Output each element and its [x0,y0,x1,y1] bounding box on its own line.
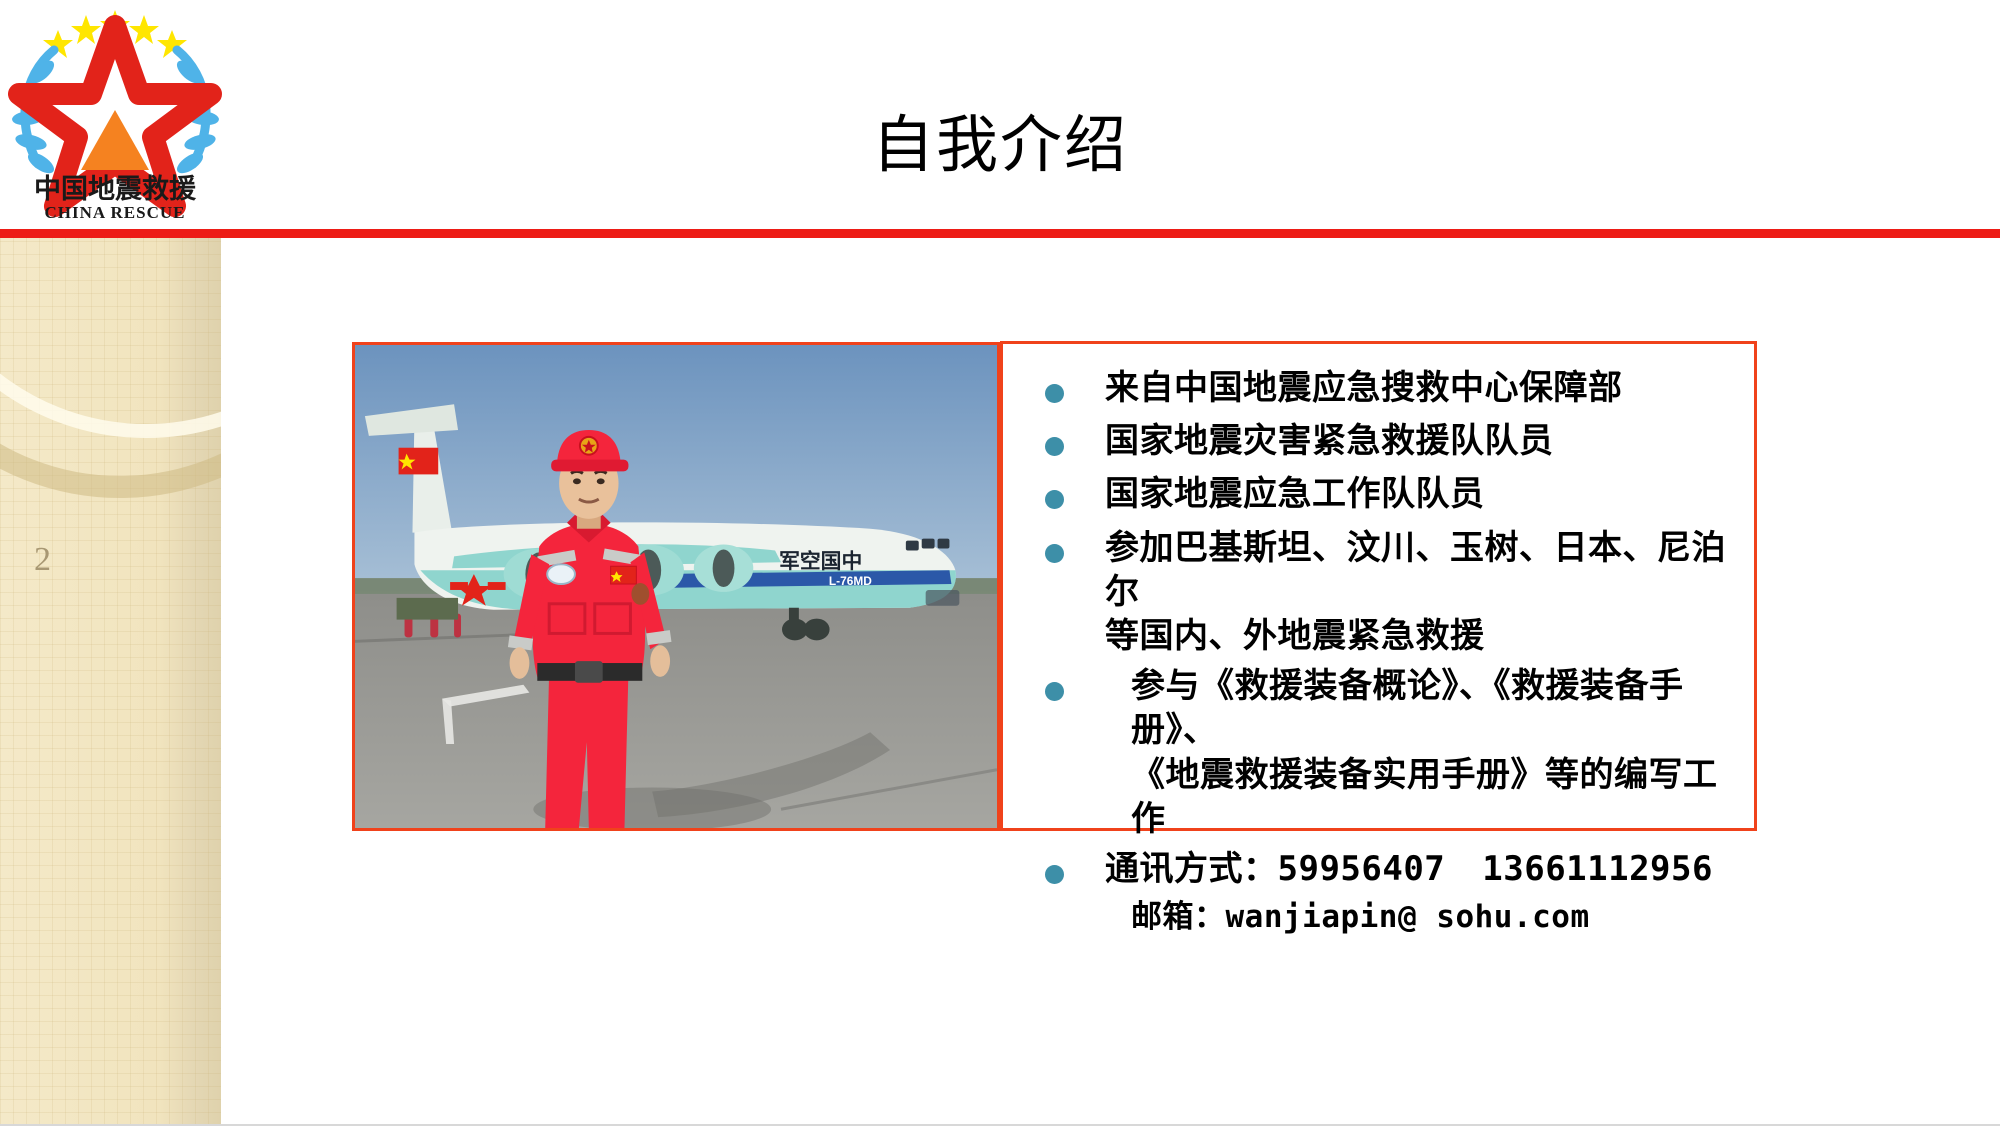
email-value: wanjiapin@ sohu.com [1226,899,1590,935]
list-item-contact: 通讯方式：59956407 13661112956 [1003,847,1754,891]
bullet-text: 国家地震灾害紧急救援队队员 [1105,419,1738,463]
email-label: 邮箱： [1131,899,1226,935]
slide-number: 2 [34,541,51,579]
bullet-text-line1: 参加巴基斯坦、汶川、玉树、日本、尼泊尔 [1105,526,1738,614]
bullet-text-line2: 等国内、外地震紧急救援 [1105,614,1738,658]
bullet-dot-icon [1045,544,1064,563]
contact-line: 通讯方式：59956407 13661112956 [1105,847,1738,891]
header-accent-rule [0,229,2000,238]
bio-bullet-list: 来自中国地震应急搜救中心保障部 国家地震灾害紧急救援队队员 国家地震应急工作队队… [1003,344,1754,937]
list-item: 参加巴基斯坦、汶川、玉树、日本、尼泊尔 等国内、外地震紧急救援 [1003,526,1754,659]
list-item: 国家地震应急工作队队员 [1003,472,1754,516]
bullet-dot-icon [1045,490,1064,509]
page-title: 自我介绍 [0,112,2000,177]
list-item: 参与《救援装备概论》、《救援装备手册》、 《地震救援装备实用手册》等的编写工作 [1003,664,1754,841]
bullet-text: 国家地震应急工作队队员 [1105,472,1738,516]
logo-text-en: CHINA RESCUE [45,203,186,222]
contact-label: 通讯方式： [1105,849,1278,889]
list-item: 国家地震灾害紧急救援队队员 [1003,419,1754,463]
slide-header: 中国地震救援 CHINA RESCUE 自我介绍 [0,0,2000,229]
bio-textbox: 来自中国地震应急搜救中心保障部 国家地震灾害紧急救援队队员 国家地震应急工作队队… [1000,341,1757,831]
bullet-text: 来自中国地震应急搜救中心保障部 [1105,366,1738,410]
list-item-email: 邮箱：wanjiapin@ sohu.com [1003,897,1754,937]
sidebar-arc-inner [0,238,221,438]
bullet-dot-icon [1045,384,1064,403]
bullet-dot-icon [1045,437,1064,456]
aircraft-tail-code: L-76MD [829,574,872,588]
aircraft-marking-text: 军空国中 [779,549,862,573]
bullet-dot-icon [1045,682,1064,701]
list-item: 来自中国地震应急搜救中心保障部 [1003,366,1754,410]
bullet-text-line2: 《地震救援装备实用手册》等的编写工作 [1105,753,1738,841]
logo-text-cn: 中国地震救援 [34,174,197,205]
decorative-sidebar: 2 [0,238,221,1126]
email-line: 邮箱：wanjiapin@ sohu.com [1131,897,1754,937]
photo-rescue-team-member: 军空国中 L-76MD [352,342,1000,831]
contact-phone-mobile: 13661112956 [1482,849,1713,889]
bullet-text-line1: 参与《救援装备概论》、《救援装备手册》、 [1105,664,1738,752]
bullet-dot-icon [1045,865,1064,884]
contact-phone-office: 59956407 [1278,849,1446,889]
presentation-slide: 中国地震救援 CHINA RESCUE 自我介绍 2 [0,0,2000,1126]
